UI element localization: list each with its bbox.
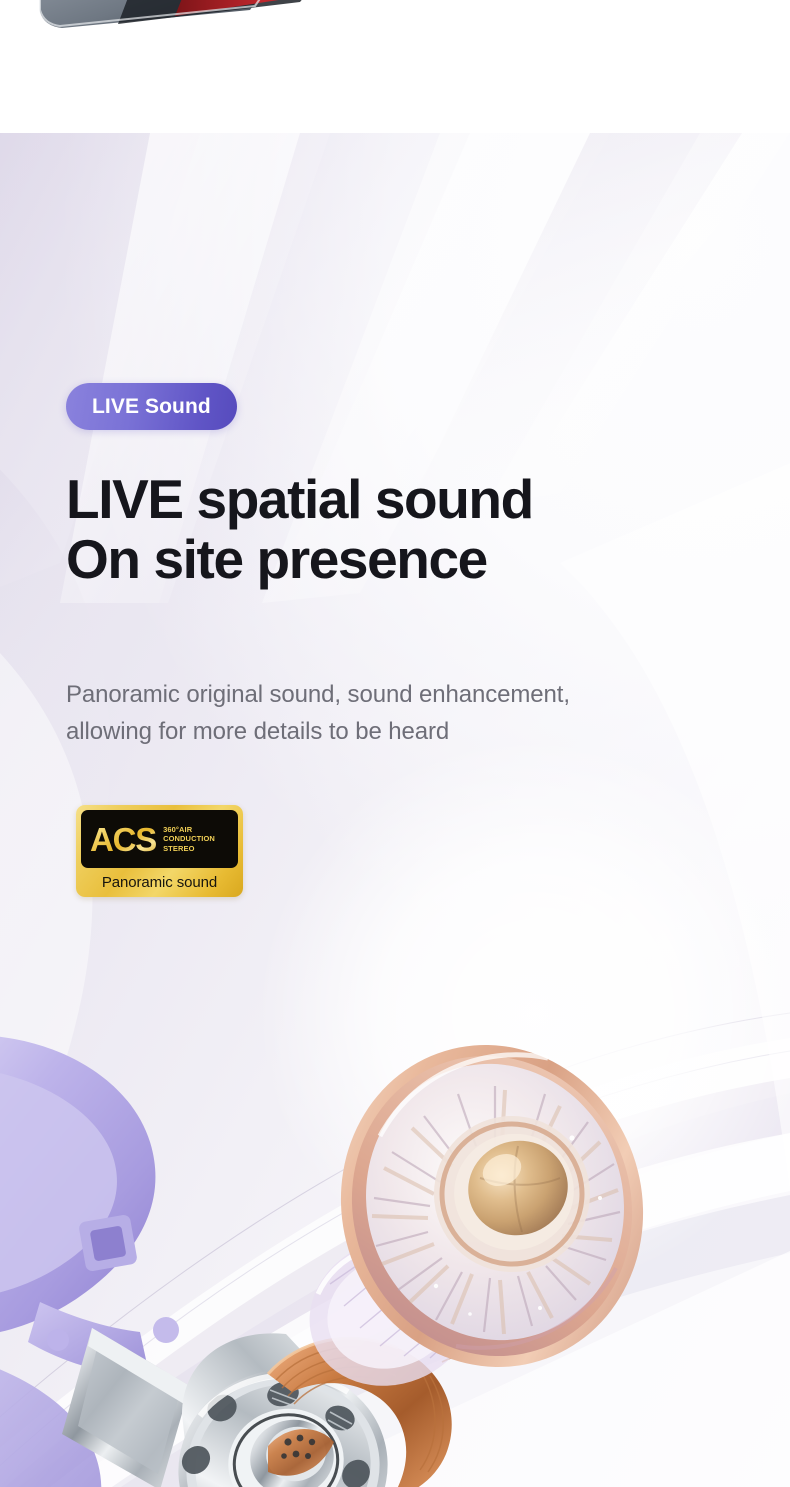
live-sound-badge[interactable]: LIVE Sound	[66, 383, 237, 430]
headline-line-1: LIVE spatial sound	[66, 468, 533, 530]
acs-spec-line-3: STEREO	[163, 844, 215, 854]
headline-line-2: On site presence	[66, 531, 766, 587]
acs-certification-badge: ACS 360°AIR CONDUCTION STEREO Panoramic …	[76, 805, 243, 897]
acs-badge-caption: Panoramic sound	[81, 868, 238, 897]
page-title: LIVE spatial sound On site presence	[66, 471, 766, 587]
live-sound-badge-label: LIVE Sound	[92, 395, 211, 419]
acs-spec-line-1: 360°AIR	[163, 825, 215, 835]
previous-section-tail	[0, 0, 790, 133]
hero-section: LIVE Sound LIVE spatial sound On site pr…	[0, 133, 790, 1487]
product-feature-page: LIVE Sound LIVE spatial sound On site pr…	[0, 0, 790, 1487]
acs-badge-panel: ACS 360°AIR CONDUCTION STEREO	[81, 810, 238, 868]
acs-logo-text: ACS	[90, 823, 156, 856]
subtitle-line-2: allowing for more details to be heard	[66, 718, 449, 745]
subtitle: Panoramic original sound, sound enhancem…	[66, 676, 766, 750]
device-edge-graphic	[0, 0, 420, 50]
subtitle-line-1: Panoramic original sound, sound enhancem…	[66, 681, 570, 708]
acs-spec-line-2: CONDUCTION	[163, 834, 215, 844]
acs-spec-text: 360°AIR CONDUCTION STEREO	[163, 825, 215, 854]
